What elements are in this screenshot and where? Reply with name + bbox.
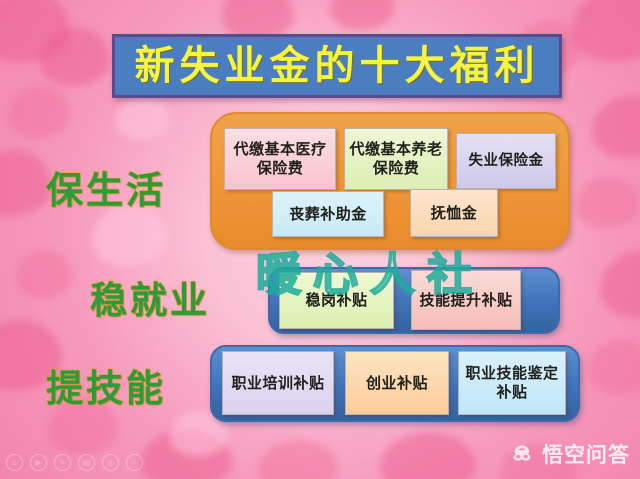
edit-icon[interactable]: ✎ <box>54 454 71 471</box>
gift-icon[interactable]: ▤ <box>78 454 95 471</box>
page-title: 新失业金的十大福利 <box>135 46 540 86</box>
benefit-card-jinengtishengbutie[interactable]: 技能提升补贴 <box>411 270 521 330</box>
benefit-card-zhiyejinengjiandingbutie[interactable]: 职业技能鉴定补贴 <box>458 351 566 415</box>
benefit-card-fuxujin[interactable]: 抚恤金 <box>410 189 498 237</box>
benefit-card-wengangbutie[interactable]: 稳岗补贴 <box>279 272 394 329</box>
benefit-card-yiliao[interactable]: 代缴基本医疗保险费 <box>224 128 336 190</box>
bottom-icon-bar: ⌂ ▶ ✎ ▤ ◎ ⋯ <box>6 454 143 471</box>
play-icon[interactable]: ▶ <box>30 454 47 471</box>
more-icon[interactable]: ⋯ <box>126 454 143 471</box>
side-label-wenjiuye: 稳就业 <box>90 270 210 324</box>
page-title-banner: 新失业金的十大福利 <box>112 34 562 98</box>
benefit-card-zhiyepeixunbutie[interactable]: 职业培训补贴 <box>222 351 334 415</box>
benefit-card-yanglao[interactable]: 代缴基本养老保险费 <box>344 128 448 190</box>
wukong-logo-text: 悟空问答 <box>542 439 630 469</box>
benefit-card-chuangyebutie[interactable]: 创业补贴 <box>345 351 449 415</box>
side-label-baoshenghuo: 保生活 <box>46 160 166 214</box>
wukong-logo: 悟空问答 <box>509 439 630 469</box>
side-label-tijineng: 提技能 <box>46 358 166 412</box>
search-icon[interactable]: ◎ <box>102 454 119 471</box>
home-icon[interactable]: ⌂ <box>6 454 23 471</box>
monkey-face-icon <box>509 444 535 464</box>
benefit-card-shiyebaoxianjin[interactable]: 失业保险金 <box>456 133 556 189</box>
benefit-card-sangzangbuzhujin[interactable]: 丧葬补助金 <box>272 191 384 237</box>
